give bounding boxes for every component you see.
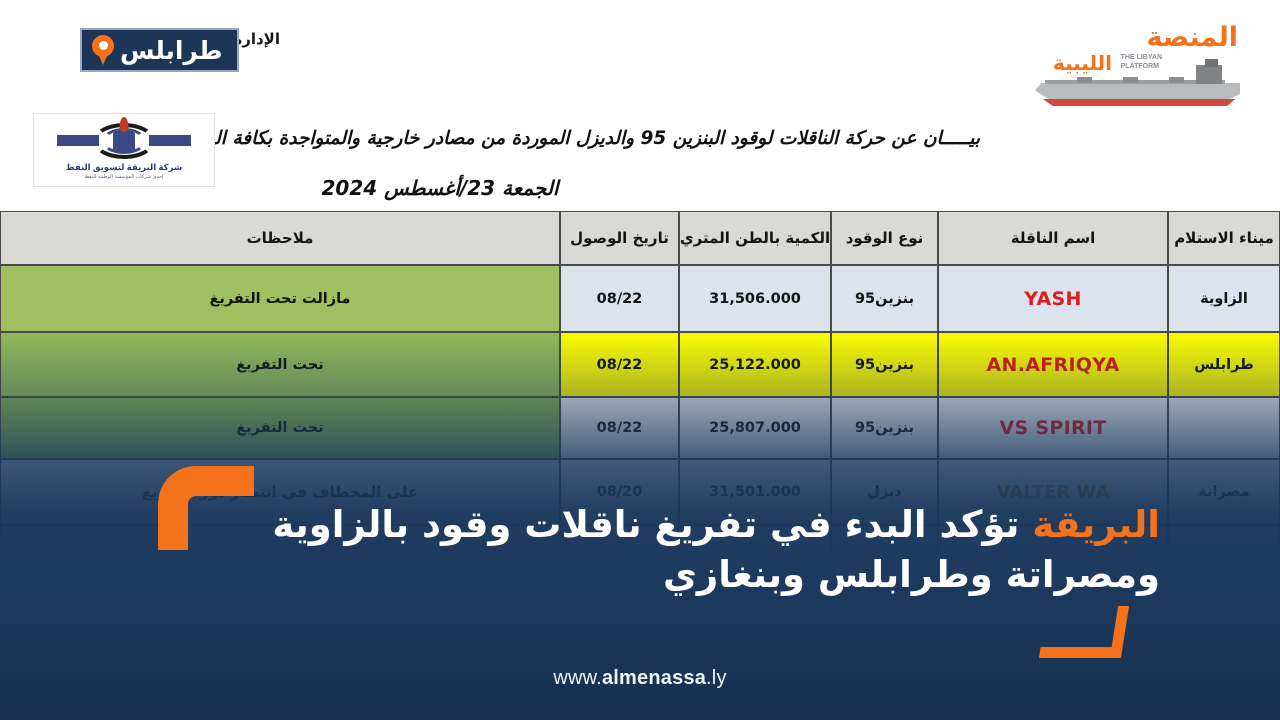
cell-quantity: 31,506.000 [679,265,831,332]
platform-logo-name-en: THE LIBYAN PLATFORM [1121,54,1162,72]
column-header-notes: ملاحظات [0,211,560,265]
cell-quantity: 25,807.000 [679,397,831,459]
cell-fuel-type: بنزين95 [831,332,938,397]
cell-arrival-date: 08/22 [560,265,679,332]
cell-ship-name: AN.AFRIQYA [938,332,1168,397]
cell-notes: تحت التفريغ [0,332,560,397]
table-row: طرابلس AN.AFRIQYA بنزين95 25,122.000 08/… [0,332,1280,397]
table-row: الزاوية YASH بنزين95 31,506.000 08/22 ما… [0,265,1280,332]
table-header-row: ميناء الاستلام اسم الناقلة نوع الوقود ال… [0,211,1280,265]
column-header-port: ميناء الاستلام [1168,211,1280,265]
platform-logo-en-line2: PLATFORM [1121,63,1159,70]
news-card-canvas: الإدارة العامة للتزود والنقل بيـــــان ع… [0,0,1280,720]
map-pin-icon [92,35,114,65]
cell-arrival-date: 08/22 [560,332,679,397]
table-row: VS SPIRIT بنزين95 25,807.000 08/22 تحت ا… [0,397,1280,459]
location-badge-label: طرابلس [120,38,223,63]
brega-emblem-icon [49,121,199,161]
platform-logo-name-ar: المنصة [1147,22,1239,53]
brega-logo-subtitle: إحدى شركات المؤسسة الوطنية للنفط [85,174,164,180]
cell-port [1168,525,1280,589]
column-header-ship-name: اسم الناقلة [938,211,1168,265]
cell-ship-name: YASH [938,265,1168,332]
cell-ship-name: VS SPIRIT [938,397,1168,459]
headline-rest: تؤكد البدء في تفريغ ناقلات وقود بالزاوية… [272,503,1160,596]
cell-notes: تحت التفريغ [0,397,560,459]
cell-notes: مازالت تحت التفريغ [0,265,560,332]
cell-quantity: 25,122.000 [679,332,831,397]
platform-logo-en-line1: THE LIBYAN [1121,54,1162,61]
cell-port [1168,397,1280,459]
column-header-quantity: الكمية بالطن المتري [679,211,831,265]
footer-website-url: www.almenassa.ly [0,667,1280,690]
headline-accent: البريقة [1032,503,1160,546]
document-statement-line: بيـــــان عن حركة الناقلات لوقود البنزين… [280,128,980,149]
url-suffix: .ly [706,667,727,689]
cell-port: مصراتة [1168,459,1280,525]
orange-bracket-bottom-icon [1043,606,1125,658]
cell-port: الزاوية [1168,265,1280,332]
url-brand: almenassa [602,667,706,689]
location-badge: طرابلس [80,28,239,72]
column-header-arrival-date: تاريخ الوصول [560,211,679,265]
brega-logo-name: شركة البريقة لتسويق النفط [66,162,182,173]
headline: البريقة تؤكد البدء في تفريغ ناقلات وقود … [150,500,1160,600]
column-header-fuel-type: نوع الوقود [831,211,938,265]
cell-arrival-date: 08/22 [560,397,679,459]
url-prefix: www. [553,667,602,689]
cell-port: طرابلس [1168,332,1280,397]
brega-logo: شركة البريقة لتسويق النفط إحدى شركات الم… [33,113,215,187]
cell-fuel-type: بنزين95 [831,397,938,459]
document-date-line: الجمعة 23/أغسطس 2024 [290,176,590,200]
platform-logo-name-ar2: الليبية [1053,51,1112,75]
cell-fuel-type: بنزين95 [831,265,938,332]
libyan-platform-logo: المنصة الليبية THE LIBYAN PLATFORM [1020,18,1240,88]
